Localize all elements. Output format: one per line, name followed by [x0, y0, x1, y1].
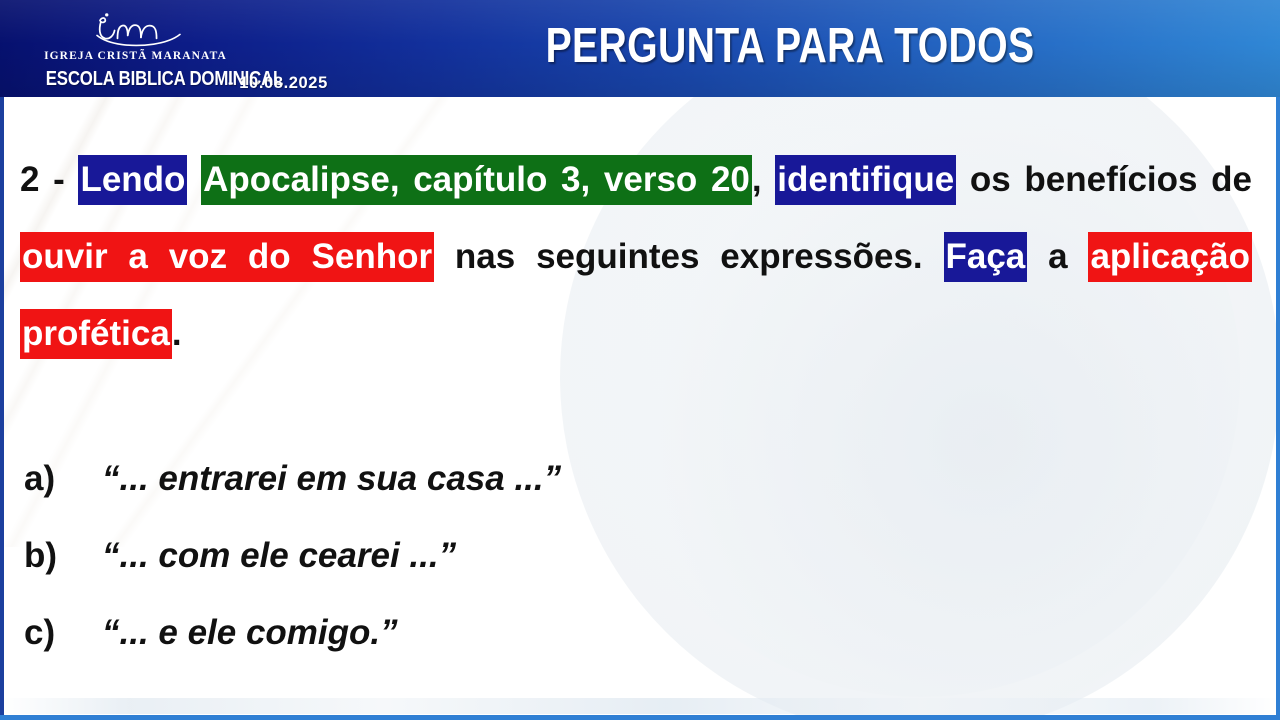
answer-marker: a) [20, 459, 102, 499]
page-title: PERGUNTA PARA TODOS [430, 20, 1150, 72]
list-item: b) “... com ele cearei ...” [20, 536, 1252, 613]
border-right [1276, 97, 1280, 720]
church-name: IGREJA CRISTÃ MARANATA [28, 50, 243, 62]
text-a: a [1027, 237, 1088, 276]
border-bottom [0, 715, 1280, 720]
answer-text: “... com ele cearei ...” [102, 536, 456, 576]
answer-text: “... entrarei em sua casa ...” [102, 459, 561, 499]
school-name: ESCOLA BIBLICA DOMINICAL [46, 68, 232, 91]
answer-text: “... e ele comigo.” [102, 613, 398, 653]
slide-content: 2 - Lendo Apocalipse, capítulo 3, verso … [20, 141, 1252, 690]
highlight-identifique: identifique [775, 155, 956, 205]
slide-header: IGREJA CRISTÃ MARANATA ESCOLA BIBLICA DO… [0, 0, 1280, 97]
highlight-faca: Faça [944, 232, 1028, 282]
text-final-period: . [172, 314, 182, 353]
border-left [0, 97, 4, 720]
answer-marker: c) [20, 613, 102, 653]
highlight-ouvir-a-voz-do-senhor: ouvir a voz do Senhor [20, 232, 434, 282]
list-item: c) “... e ele comigo.” [20, 613, 1252, 690]
list-item: a) “... entrarei em sua casa ...” [20, 459, 1252, 536]
highlight-reference: Apocalipse, capítulo 3, verso 20 [201, 155, 752, 205]
answer-marker: b) [20, 536, 102, 576]
logo-block: IGREJA CRISTÃ MARANATA ESCOLA BIBLICA DO… [28, 8, 243, 94]
text-nas-seguintes-expressoes: nas seguintes expressões. [434, 237, 943, 276]
question-number: 2 - [20, 160, 78, 199]
text-os-beneficios-de: os benefícios de [956, 160, 1252, 199]
space-after-lendo [187, 160, 201, 199]
header-date: - 10.08.2025 [228, 74, 328, 93]
question-paragraph: 2 - Lendo Apocalipse, capítulo 3, verso … [20, 141, 1252, 449]
slide-body: 2 - Lendo Apocalipse, capítulo 3, verso … [0, 97, 1280, 720]
highlight-lendo: Lendo [78, 155, 187, 205]
im-monogram-logo-icon [78, 10, 198, 52]
answer-list: a) “... entrarei em sua casa ...” b) “..… [20, 459, 1252, 690]
slide: IGREJA CRISTÃ MARANATA ESCOLA BIBLICA DO… [0, 0, 1280, 720]
text-after-reference: , [752, 160, 775, 199]
background-shelf-graphic [0, 698, 1280, 714]
